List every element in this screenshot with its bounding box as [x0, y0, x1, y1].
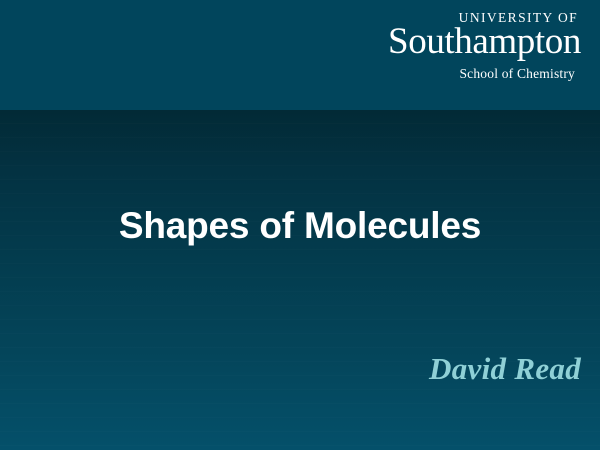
logo-southampton-wordmark: Southampton: [351, 24, 581, 60]
university-of-southampton-logo: UNIVERSITY OF Southampton School of Chem…: [351, 11, 581, 80]
presentation-title-slide: UNIVERSITY OF Southampton School of Chem…: [0, 0, 600, 450]
slide-title: Shapes of Molecules: [0, 206, 600, 247]
logo-school-of-chemistry-text: School of Chemistry: [351, 67, 581, 81]
slide-author: David Read: [429, 352, 581, 386]
gradient-banding-overlay: [0, 110, 600, 450]
